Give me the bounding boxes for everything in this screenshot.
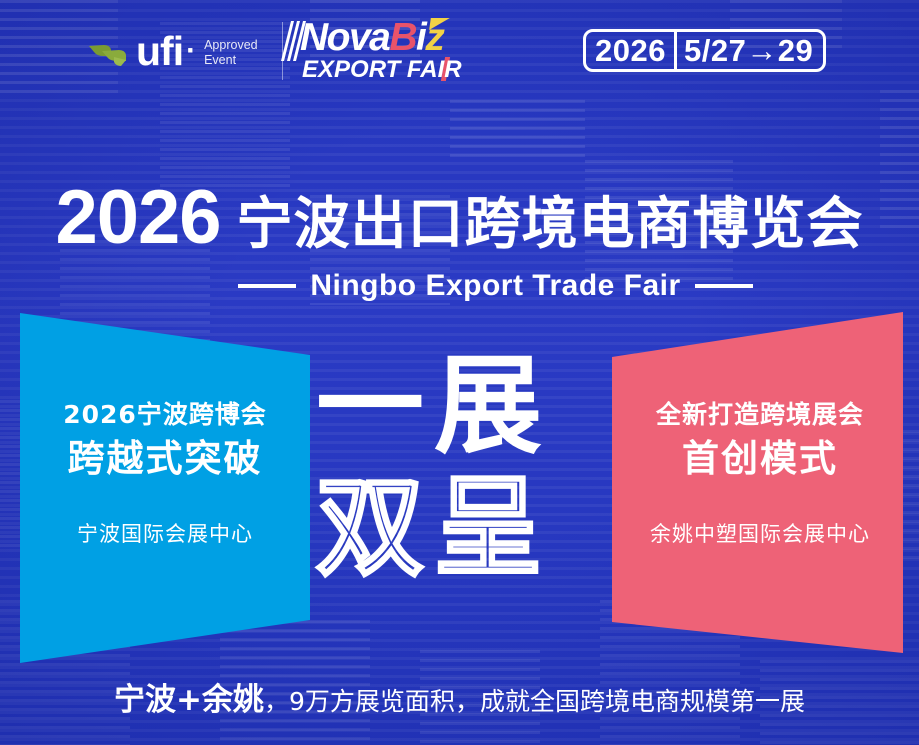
event-date-year: 2026 — [586, 32, 674, 69]
novabiz-z-text: z — [425, 16, 443, 59]
ufi-sub-line-2: Event — [204, 53, 258, 67]
event-promo-banner: ufi · Approved Event NovaBiz EXPORT FAIR… — [0, 0, 919, 745]
bottom-tagline: 宁波+余姚，9万方展览面积，成就全国跨境电商规模第一展 — [0, 674, 919, 719]
main-title-row: 2026 宁波出口跨境电商博览会 — [0, 180, 919, 256]
panel-left-headline: 跨越式突破 — [30, 436, 300, 482]
event-date-range: 5/27→29 — [677, 32, 823, 69]
ufi-sub-line-1: Approved — [204, 38, 258, 52]
subtitle-rule-right — [695, 284, 753, 288]
subtitle-rule-left — [238, 284, 296, 288]
ufi-wordmark: ufi — [136, 31, 183, 72]
novabiz-b-text: B — [389, 16, 416, 59]
main-title-block: 2026 宁波出口跨境电商博览会 Ningbo Export Trade Fai… — [0, 180, 919, 303]
ufi-approved-event-text: Approved Event — [204, 38, 258, 67]
center-slogan: 一展 双呈 — [316, 345, 606, 630]
panel-right-headline: 首创模式 — [620, 436, 900, 482]
event-date-badge: 2026 5/27→29 — [583, 29, 826, 72]
novabiz-wordmark: NovaBiz — [300, 18, 443, 57]
novabiz-i-text: i — [416, 16, 425, 59]
ufi-approved-event-logo: ufi · Approved Event — [88, 28, 258, 74]
panel-left-venue: 宁波国际会展中心 — [30, 522, 300, 547]
slogan-line-2: 双呈 — [316, 475, 606, 583]
main-title-year: 2026 — [55, 180, 220, 256]
main-title-chinese: 宁波出口跨境电商博览会 — [237, 197, 864, 253]
panel-right-top-label: 全新打造跨境展会 — [620, 400, 900, 430]
tagline-rest: ，9万方展览面积，成就全国跨境电商规模第一展 — [264, 687, 805, 716]
ufi-dot: · — [186, 36, 195, 66]
panel-left-top-label: 2026宁波跨博会 — [30, 400, 300, 430]
novabiz-tagline: EXPORT FAIR — [302, 58, 462, 82]
slogan-line-1: 一展 — [316, 353, 606, 461]
novabiz-nova-text: Nova — [300, 16, 389, 59]
banner-header: ufi · Approved Event NovaBiz EXPORT FAIR… — [0, 0, 919, 100]
novabiz-export-fair-logo: NovaBiz EXPORT FAIR — [300, 18, 500, 84]
panel-right-content: 全新打造跨境展会 首创模式 余姚中塑国际会展中心 — [620, 400, 900, 547]
panel-right-venue: 余姚中塑国际会展中心 — [620, 522, 900, 547]
tagline-strong: 宁波+余姚 — [114, 682, 264, 718]
panel-left-content: 2026宁波跨博会 跨越式突破 宁波国际会展中心 — [30, 400, 300, 547]
ufi-leaf-icon — [88, 39, 134, 69]
